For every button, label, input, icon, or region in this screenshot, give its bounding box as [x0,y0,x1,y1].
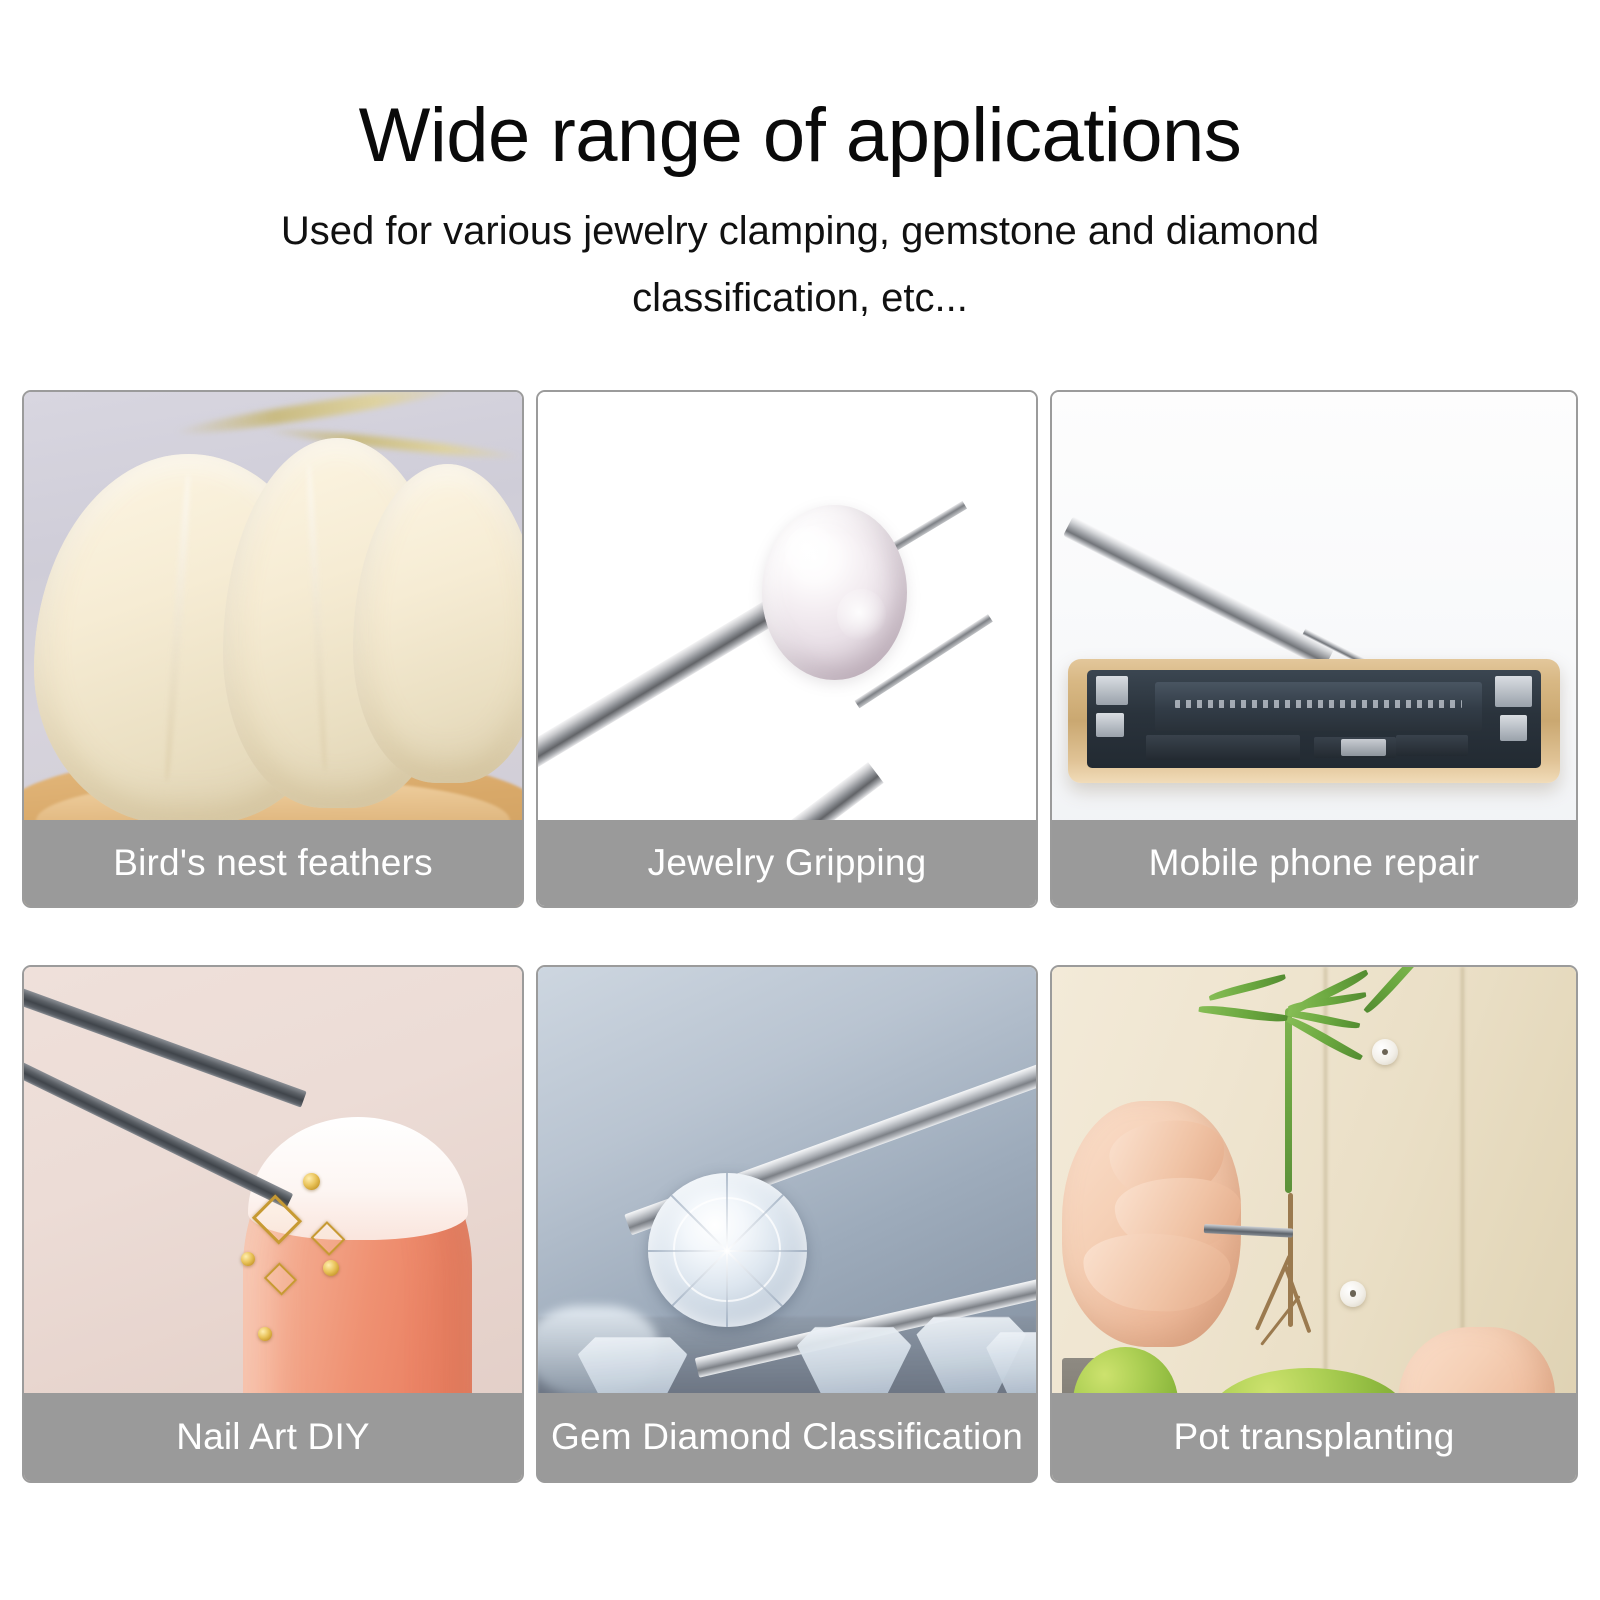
smartphone-chassis [1068,659,1561,782]
card-caption-jewelry-gripping: Jewelry Gripping [538,820,1036,906]
gem-diamond-photo: Gem Diamond Classification [538,967,1036,1481]
board-component [1396,735,1469,756]
shirt-button [1340,1281,1366,1307]
application-card-gem-diamond-classification[interactable]: Gem Diamond Classification [536,965,1038,1483]
card-caption-nail-art-diy: Nail Art DIY [24,1393,522,1481]
brilliant-cut-diamond [648,1173,807,1327]
application-card-jewelry-gripping[interactable]: Jewelry Gripping [536,390,1038,908]
gold-stud [241,1252,255,1266]
card-caption-pot-transplanting: Pot transplanting [1052,1393,1576,1481]
page-title: Wide range of applications [0,88,1600,184]
page-header: Wide range of applications Used for vari… [0,88,1600,332]
card-caption-mobile-phone-repair: Mobile phone repair [1052,820,1576,906]
mobile-phone-repair-photo: Mobile phone repair [1052,392,1576,906]
pot-transplanting-photo: Pot transplanting [1052,967,1576,1481]
applications-page: Wide range of applications Used for vari… [0,0,1600,1600]
application-card-mobile-phone-repair[interactable]: Mobile phone repair [1050,390,1578,908]
application-card-pot-transplanting[interactable]: Pot transplanting [1050,965,1578,1483]
application-card-birds-nest-feathers[interactable]: Bird's nest feathers [22,390,524,908]
board-component [1146,735,1300,760]
birds-nest-photo: Bird's nest feathers [24,392,522,906]
battery-pack [1155,682,1481,731]
card-caption-birds-nest: Bird's nest feathers [24,820,522,906]
diamond-facet [726,1173,728,1251]
card-caption-gem-diamond-classification: Gem Diamond Classification [538,1393,1036,1481]
application-card-nail-art-diy[interactable]: Nail Art DIY [22,965,524,1483]
page-subtitle: Used for various jewelry clamping, gemst… [175,198,1425,332]
logic-board [1087,670,1540,767]
seedling-stem [1285,1008,1292,1193]
nail-art-photo: Nail Art DIY [24,967,522,1481]
gold-stud [303,1173,320,1190]
gold-stud [323,1260,339,1276]
connector-chip [1096,713,1123,736]
connector-chip [1495,676,1531,707]
jewelry-gripping-photo: Jewelry Gripping [538,392,1036,906]
gold-stud [258,1327,272,1341]
battery-label-text [1175,700,1462,709]
pearl [762,505,906,680]
shirt-button [1372,1039,1398,1065]
flex-cable [1341,739,1386,757]
diamond-facet [648,1250,728,1252]
application-card-grid: Bird's nest feathers Jewelry Gripping [22,390,1578,1483]
diamond-facet [727,1250,807,1252]
connector-chip [1096,676,1128,705]
connector-chip [1500,715,1527,740]
diamond-facet [726,1251,728,1327]
